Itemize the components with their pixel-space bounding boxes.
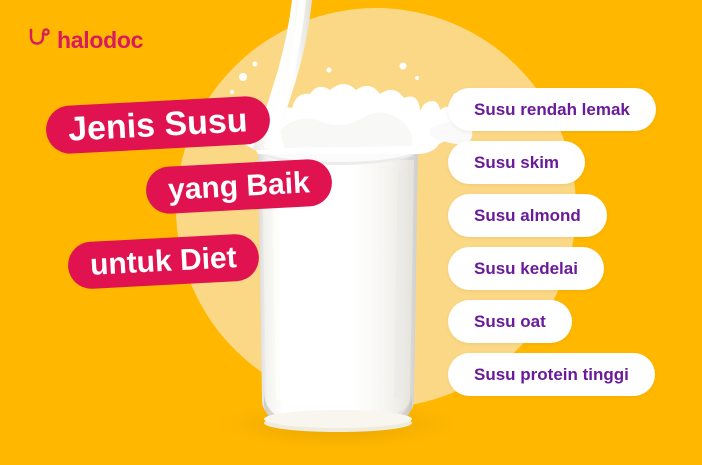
headline-line-1-text: Jenis Susu: [67, 101, 248, 149]
list-item-label: Susu almond: [474, 206, 581, 226]
list-item-label: Susu protein tinggi: [474, 365, 629, 385]
list-item[interactable]: Susu oat: [448, 300, 572, 343]
headline-line-2: yang Baik: [145, 158, 333, 215]
poster-canvas: halodoc Jenis Susu yang Baik untuk Diet …: [0, 0, 702, 465]
list-item-label: Susu skim: [474, 153, 559, 173]
brand-logo[interactable]: halodoc: [28, 28, 143, 52]
list-item[interactable]: Susu skim: [448, 141, 585, 184]
headline-line-3-text: untuk Diet: [89, 241, 237, 283]
list-item-label: Susu oat: [474, 312, 546, 332]
headline-line-3: untuk Diet: [67, 233, 260, 290]
milk-type-list: Susu rendah lemak Susu skim Susu almond …: [448, 88, 656, 396]
list-item[interactable]: Susu rendah lemak: [448, 88, 656, 131]
list-item[interactable]: Susu kedelai: [448, 247, 604, 290]
list-item[interactable]: Susu protein tinggi: [448, 353, 655, 396]
headline-line-2-text: yang Baik: [167, 166, 310, 207]
list-item-label: Susu kedelai: [474, 259, 578, 279]
list-item-label: Susu rendah lemak: [474, 100, 630, 120]
list-item[interactable]: Susu almond: [448, 194, 607, 237]
brand-name: halodoc: [57, 29, 143, 52]
stethoscope-icon: [28, 28, 50, 52]
